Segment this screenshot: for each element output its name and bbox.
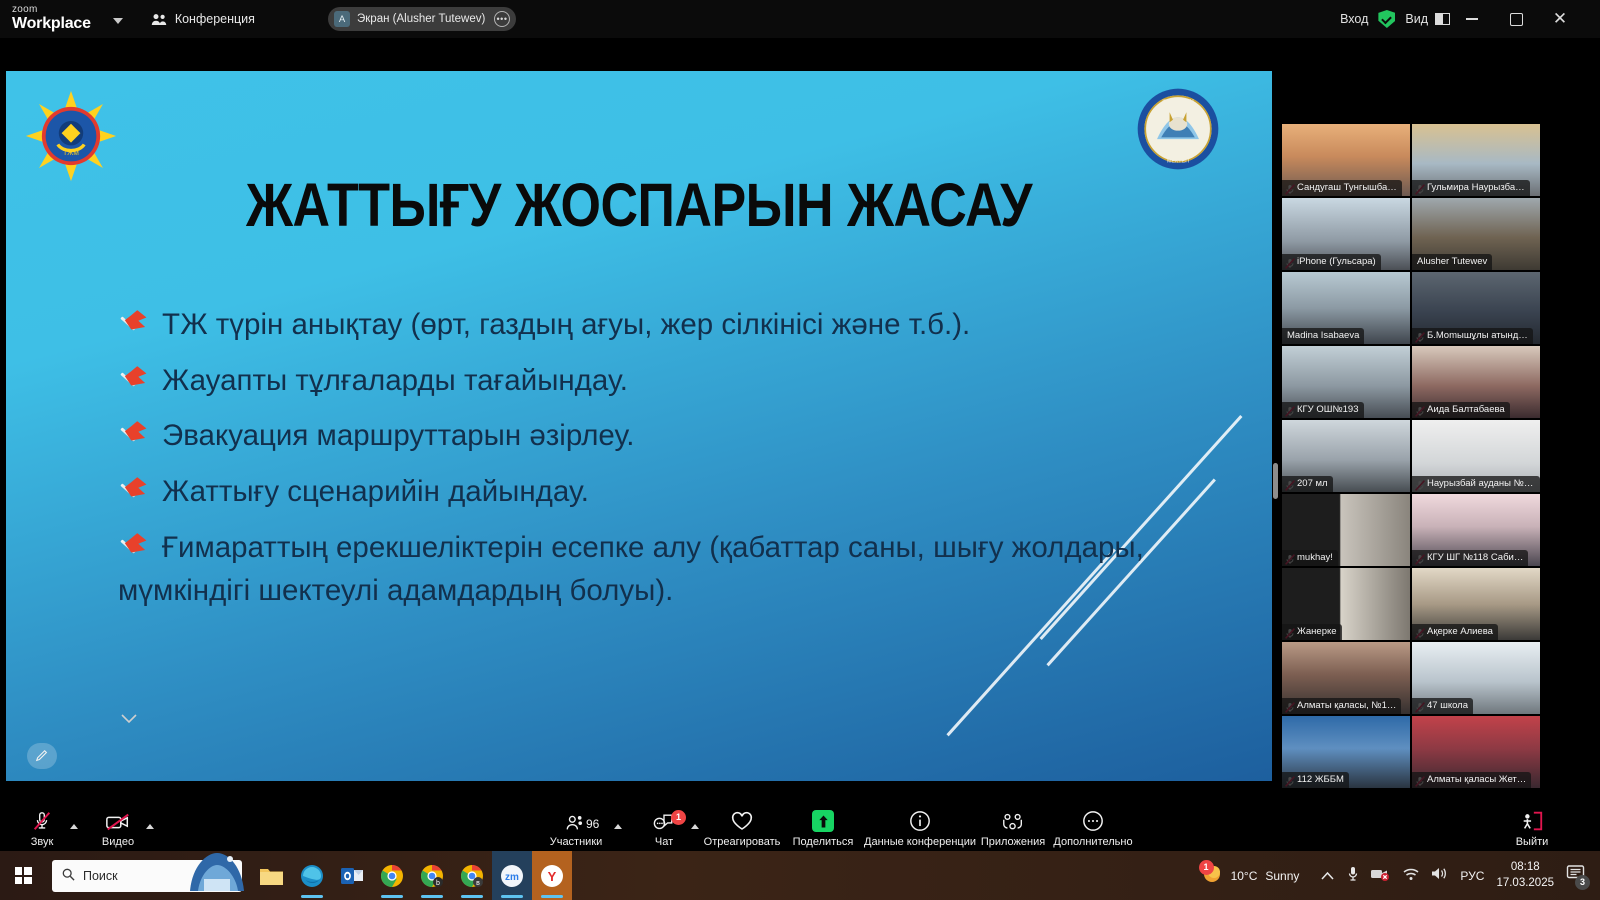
meeting-tab-label: Конференция bbox=[175, 12, 255, 26]
slide-bullet: Жаттығу сценарийін дайындау. bbox=[118, 470, 1214, 514]
tray-language[interactable]: РУС bbox=[1460, 869, 1484, 883]
heart-icon bbox=[730, 810, 754, 832]
start-button[interactable] bbox=[0, 851, 46, 900]
participant-tile[interactable]: iPhone (Гульсара) bbox=[1282, 198, 1410, 270]
slide-scrollbar[interactable] bbox=[1273, 463, 1278, 499]
tray-date: 17.03.2025 bbox=[1496, 876, 1554, 892]
weather-badge: 1 bbox=[1199, 860, 1214, 875]
participant-tile[interactable]: Алматы қаласы, №1… bbox=[1282, 642, 1410, 714]
participant-tile[interactable]: 47 школа bbox=[1412, 642, 1540, 714]
taskbar-zoom-icon[interactable]: zm bbox=[492, 851, 532, 900]
slide-bullet-text: ТЖ түрін анықтау (өрт, газдың ағуы, жер … bbox=[162, 308, 970, 341]
participant-name: Аида Балтабаева bbox=[1412, 402, 1510, 419]
toolbar-share-button[interactable]: Поделиться bbox=[775, 810, 871, 848]
participant-name: Ақерке Алиева bbox=[1412, 624, 1498, 641]
windows-taskbar: Поиск bbox=[0, 851, 1600, 900]
camera-muted-icon bbox=[105, 810, 131, 832]
close-button[interactable]: ✕ bbox=[1538, 0, 1582, 38]
participant-tile[interactable]: Alusher Tutewev bbox=[1412, 198, 1540, 270]
zoom-logo: zoom Workplace bbox=[12, 5, 91, 32]
svg-text:zm: zm bbox=[505, 872, 519, 883]
participant-name: Алматы қаласы Жет… bbox=[1412, 772, 1531, 789]
search-icon bbox=[62, 868, 75, 884]
taskbar-file-explorer-icon[interactable] bbox=[252, 851, 292, 900]
slide-title: ЖАТТЫҒУ ЖОСПАРЫН ЖАСАУ bbox=[6, 171, 1272, 242]
taskbar-chrome-beta-icon[interactable]: b bbox=[412, 851, 452, 900]
participant-filmstrip[interactable]: Сандугаш Тунгышба…Гульмира Наурызба…iPho… bbox=[1282, 124, 1540, 814]
weather-temp: 10°C bbox=[1231, 869, 1258, 883]
participant-tile[interactable]: Жанерке bbox=[1282, 568, 1410, 640]
participant-tile[interactable]: Гульмира Наурызба… bbox=[1412, 124, 1540, 196]
weather-desc: Sunny bbox=[1265, 869, 1299, 883]
leave-door-icon bbox=[1520, 810, 1544, 832]
chat-unread-badge: 1 bbox=[671, 810, 686, 825]
maximize-button[interactable] bbox=[1494, 0, 1538, 38]
weather-icon[interactable]: 1 bbox=[1201, 862, 1223, 889]
tray-camera-off-icon[interactable] bbox=[1370, 866, 1390, 886]
toolbar-video-button[interactable]: Видео bbox=[70, 810, 166, 848]
participant-name: КГУ ОШ№193 bbox=[1282, 402, 1364, 419]
participant-name: Жанерке bbox=[1282, 624, 1342, 641]
participant-name: Б.Momышұлы атынд… bbox=[1412, 328, 1533, 345]
video-options-caret-icon[interactable] bbox=[146, 824, 154, 829]
search-placeholder: Поиск bbox=[83, 869, 118, 883]
toolbar-more-label: Дополнительно bbox=[1053, 836, 1132, 848]
share-label: Экран (Alusher Tutewev) bbox=[357, 13, 485, 25]
slide-bullet: Эвакуация маршруттарын әзірлеу. bbox=[118, 414, 1214, 458]
tray-expand-icon[interactable] bbox=[1321, 867, 1334, 885]
participant-name: 112 ЖББМ bbox=[1282, 772, 1349, 789]
slide-bullet: Ғимараттың ерекшеліктерін есепке алу (қа… bbox=[118, 526, 1214, 613]
svg-text:в: в bbox=[476, 880, 480, 887]
svg-text:ТЖМ: ТЖМ bbox=[63, 150, 79, 157]
meeting-tab[interactable]: Конференция bbox=[151, 12, 255, 26]
pushpin-icon bbox=[118, 421, 154, 451]
participant-tile[interactable]: Ақерке Алиева bbox=[1412, 568, 1540, 640]
toolbar-leave-button[interactable]: Выйти bbox=[1484, 810, 1580, 848]
people-group-icon bbox=[151, 13, 168, 26]
participant-name: Madina Isabaeva bbox=[1282, 328, 1364, 345]
emblem-right-icon: ҚАЗАҚСТАН МЕКТЕП bbox=[1136, 87, 1220, 171]
pushpin-icon bbox=[118, 310, 154, 340]
slide-bullet: Жауапты тұлғаларды тағайындау. bbox=[118, 359, 1214, 403]
participants-count: 96 bbox=[586, 817, 599, 831]
shield-check-icon[interactable] bbox=[1378, 10, 1395, 28]
more-circle-icon bbox=[1082, 810, 1104, 832]
slide-bullet-text: Эвакуация маршруттарын әзірлеу. bbox=[162, 419, 635, 452]
tray-clock[interactable]: 08:18 17.03.2025 bbox=[1496, 860, 1554, 891]
pushpin-icon bbox=[118, 533, 154, 563]
emblem-left-icon: ТЖМ bbox=[24, 89, 118, 183]
participants-icon bbox=[565, 810, 587, 832]
svg-text:ҚАЗАҚСТАН: ҚАЗАҚСТАН bbox=[1162, 99, 1193, 105]
pushpin-icon bbox=[118, 366, 154, 396]
participant-tile[interactable]: Madina Isabaeva bbox=[1282, 272, 1410, 344]
participant-tile[interactable]: КГУ ШГ №118 Саби… bbox=[1412, 494, 1540, 566]
toolbar-video-label: Видео bbox=[102, 836, 134, 848]
taskbar-yandex-icon[interactable]: Y bbox=[532, 851, 572, 900]
toolbar-meeting-info-label: Данные конференции bbox=[864, 836, 976, 848]
zoom-title-bar: zoom Workplace Конференция A Экран (Alus… bbox=[0, 0, 1600, 38]
svg-text:МЕКТЕП: МЕКТЕП bbox=[1167, 159, 1189, 165]
filmstrip-scroll-down-button[interactable] bbox=[118, 710, 140, 728]
meeting-stage: ТЖМ ҚАЗАҚСТАН МЕКТЕП ЖАТТЫҒУ ЖОСПАРЫН ЖА… bbox=[0, 38, 1600, 806]
toolbar-audio-label: Звук bbox=[31, 836, 54, 848]
participant-tile[interactable]: КГУ ОШ№193 bbox=[1282, 346, 1410, 418]
slide-bullet: ТЖ түрін анықтау (өрт, газдың ағуы, жер … bbox=[118, 303, 1214, 347]
participant-name: mukhay! bbox=[1282, 550, 1338, 567]
share-more-icon[interactable]: ••• bbox=[494, 11, 510, 27]
zoom-logo-line2: Workplace bbox=[12, 16, 91, 33]
shared-slide[interactable]: ТЖМ ҚАЗАҚСТАН МЕКТЕП ЖАТТЫҒУ ЖОСПАРЫН ЖА… bbox=[6, 71, 1272, 781]
participant-name: Гульмира Наурызба… bbox=[1412, 180, 1530, 197]
tray-volume-icon[interactable] bbox=[1430, 866, 1448, 886]
screen-share-indicator[interactable]: A Экран (Alusher Tutewev) ••• bbox=[328, 7, 516, 31]
toolbar-leave-label: Выйти bbox=[1516, 836, 1549, 848]
participant-name: Alusher Tutewev bbox=[1412, 254, 1492, 271]
microphone-muted-icon bbox=[31, 810, 53, 832]
participant-tile[interactable]: Б.Momышұлы атынд… bbox=[1412, 272, 1540, 344]
participant-name: КГУ ШГ №118 Саби… bbox=[1412, 550, 1528, 567]
share-avatar: A bbox=[334, 11, 350, 27]
participant-name: iPhone (Гульсара) bbox=[1282, 254, 1381, 271]
taskbar-chrome-icon[interactable] bbox=[372, 851, 412, 900]
view-layout-icon[interactable] bbox=[1435, 13, 1450, 25]
tray-time: 08:18 bbox=[1496, 860, 1554, 876]
slide-bullet-list: ТЖ түрін анықтау (өрт, газдың ағуы, жер … bbox=[118, 303, 1214, 625]
participant-tile[interactable]: Алматы қаласы Жет… bbox=[1412, 716, 1540, 788]
info-circle-icon bbox=[909, 810, 931, 832]
notification-count-badge: 3 bbox=[1575, 875, 1590, 890]
participant-name: Наурызбай ауданы №1… bbox=[1412, 476, 1540, 493]
toolbar-meeting-info-button[interactable]: Данные конференции bbox=[872, 810, 968, 848]
annotate-pencil-button[interactable] bbox=[27, 743, 57, 769]
participant-name: Алматы қаласы, №1… bbox=[1282, 698, 1401, 715]
participant-tile[interactable]: 112 ЖББМ bbox=[1282, 716, 1410, 788]
pushpin-icon bbox=[118, 477, 154, 507]
slide-bullet-text: Жаттығу сценарийін дайындау. bbox=[162, 475, 589, 508]
search-illustration-icon bbox=[186, 845, 248, 892]
apps-icon bbox=[1001, 810, 1025, 832]
toolbar-apps-label: Приложения bbox=[981, 836, 1045, 848]
participant-name: Сандугаш Тунгышба… bbox=[1282, 180, 1402, 197]
chevron-down-icon[interactable] bbox=[113, 18, 123, 24]
participant-name: 47 школа bbox=[1412, 698, 1473, 715]
toolbar-more-button[interactable]: Дополнительно bbox=[1045, 810, 1141, 848]
participant-tile[interactable]: 207 мл bbox=[1282, 420, 1410, 492]
participant-tile[interactable]: Наурызбай ауданы №1… bbox=[1412, 420, 1540, 492]
share-screen-icon bbox=[812, 810, 834, 832]
participant-name: 207 мл bbox=[1282, 476, 1333, 493]
taskbar-search-input[interactable]: Поиск bbox=[52, 860, 242, 892]
svg-text:Y: Y bbox=[548, 869, 557, 884]
taskbar-outlook-icon[interactable] bbox=[332, 851, 372, 900]
toolbar-share-label: Поделиться bbox=[793, 836, 854, 848]
svg-text:b: b bbox=[436, 880, 440, 887]
participant-tile[interactable]: Сандугаш Тунгышба… bbox=[1282, 124, 1410, 196]
minimize-button[interactable] bbox=[1450, 0, 1494, 38]
toolbar-chat-label: Чат bbox=[655, 836, 673, 848]
view-button[interactable]: Вид bbox=[1405, 12, 1428, 26]
tray-microphone-icon[interactable] bbox=[1346, 865, 1360, 887]
windows-logo-icon bbox=[15, 867, 32, 884]
signin-button[interactable]: Вход bbox=[1340, 12, 1368, 26]
toolbar-react-label: Отреагировать bbox=[704, 836, 781, 848]
toolbar-participants-button[interactable]: Участники bbox=[528, 810, 624, 848]
participant-tile[interactable]: Аида Балтабаева bbox=[1412, 346, 1540, 418]
toolbar-participants-label: Участники bbox=[550, 836, 603, 848]
tray-wifi-icon[interactable] bbox=[1402, 866, 1420, 886]
taskbar-edge-icon[interactable] bbox=[292, 851, 332, 900]
slide-bullet-text: Ғимараттың ерекшеліктерін есепке алу (қа… bbox=[118, 531, 1144, 608]
participant-tile[interactable]: mukhay! bbox=[1282, 494, 1410, 566]
slide-bullet-text: Жауапты тұлғаларды тағайындау. bbox=[162, 364, 628, 397]
taskbar-chrome-canary-icon[interactable]: в bbox=[452, 851, 492, 900]
tray-notifications-icon[interactable]: 3 bbox=[1566, 864, 1586, 887]
